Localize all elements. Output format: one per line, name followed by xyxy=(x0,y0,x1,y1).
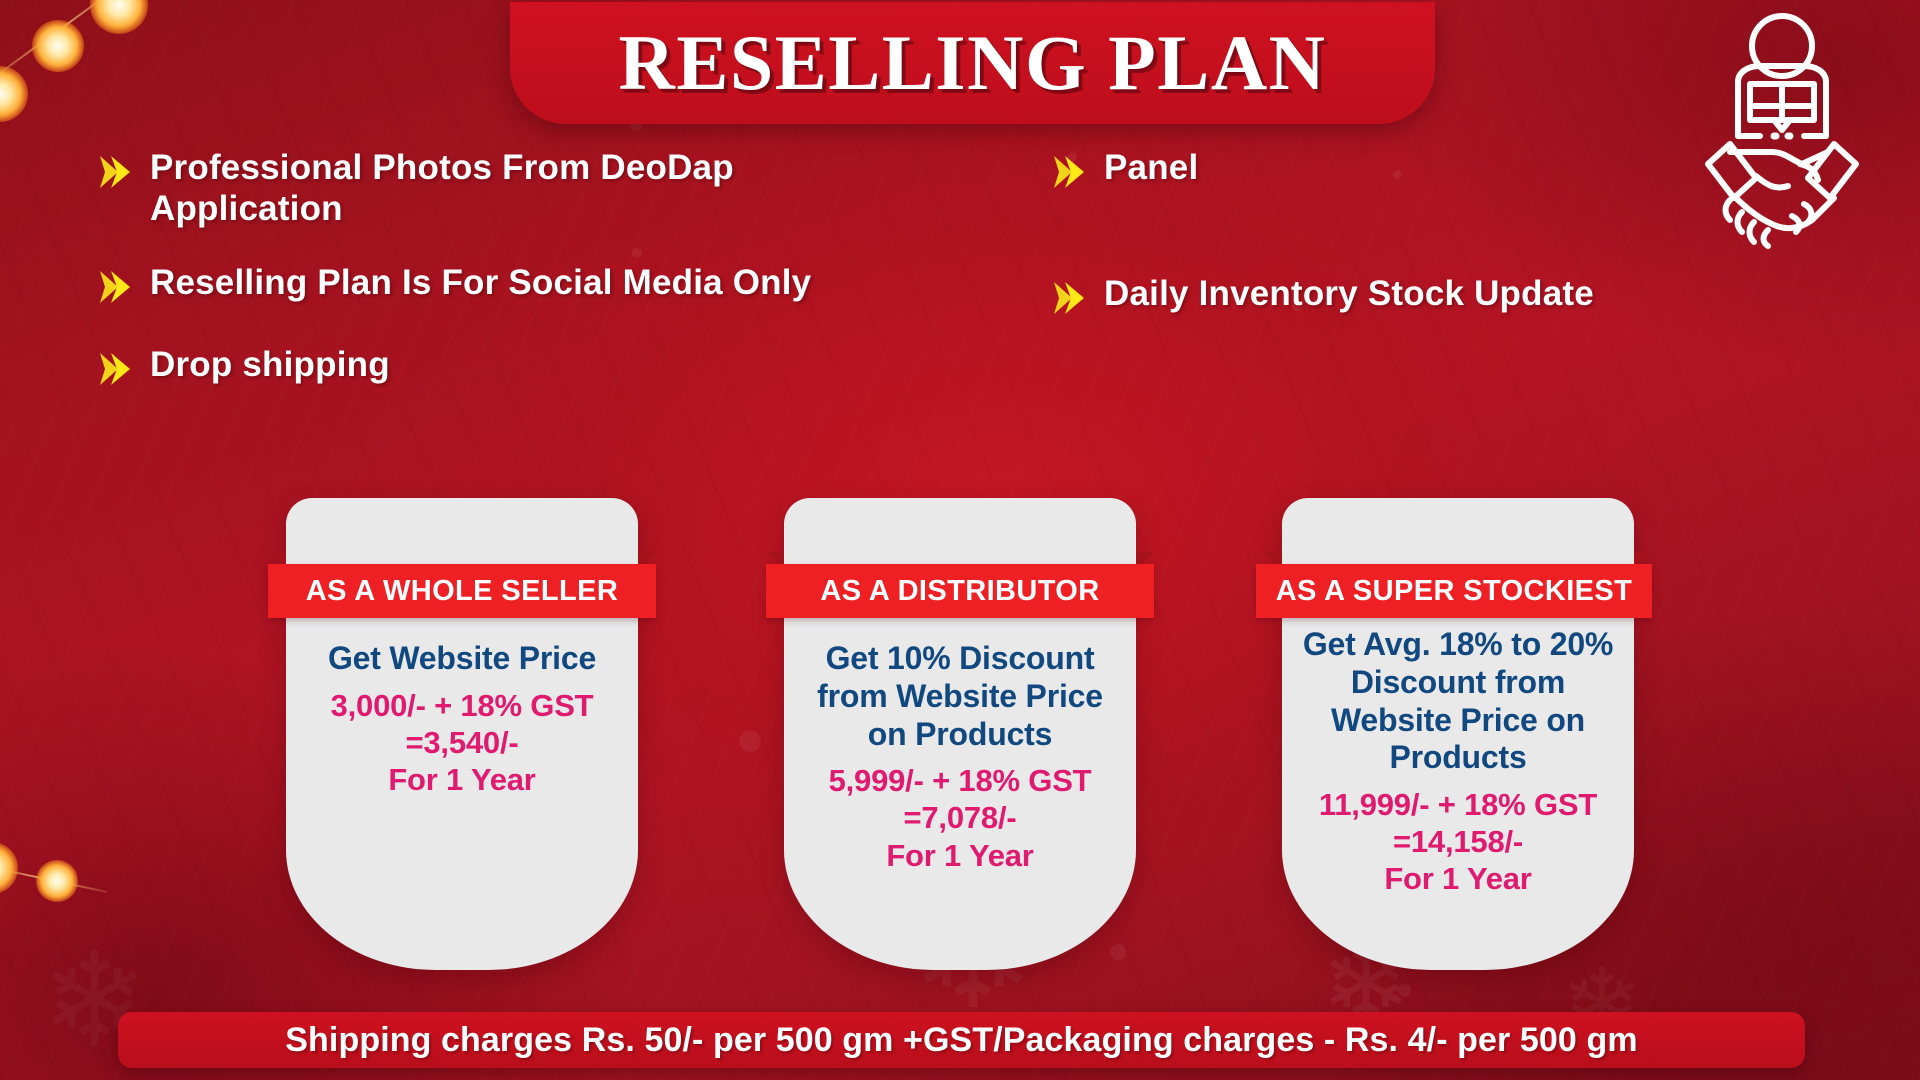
plan-headline: Get Avg. 18% to 20% Discount from Websit… xyxy=(1296,626,1620,777)
plan-card-whole-seller[interactable]: AS A WHOLE SELLER Get Website Price 3,00… xyxy=(286,498,638,970)
plan-ribbon-label: AS A DISTRIBUTOR xyxy=(820,575,1099,608)
page-title-banner: RESELLING PLAN xyxy=(510,2,1435,124)
chevron-right-icon xyxy=(1050,279,1090,322)
plan-ribbon: AS A SUPER STOCKIEST xyxy=(1256,564,1652,618)
feature-item: Daily Inventory Stock Update xyxy=(1050,274,1770,322)
chevron-right-icon xyxy=(96,350,136,393)
plan-price-line: =3,540/- xyxy=(300,724,624,761)
plan-price-line: 5,999/- + 18% GST xyxy=(798,762,1122,799)
plan-price: 5,999/- + 18% GST =7,078/- For 1 Year xyxy=(798,762,1122,874)
plan-cards: AS A WHOLE SELLER Get Website Price 3,00… xyxy=(0,498,1920,978)
feature-label: Panel xyxy=(1104,148,1198,189)
plan-ribbon: AS A DISTRIBUTOR xyxy=(766,564,1154,618)
plan-card-body: AS A SUPER STOCKIEST Get Avg. 18% to 20%… xyxy=(1282,498,1634,970)
feature-item: Reselling Plan Is For Social Media Only xyxy=(96,263,836,311)
plan-card-body: AS A WHOLE SELLER Get Website Price 3,00… xyxy=(286,498,638,970)
plan-card-content: Get Website Price 3,000/- + 18% GST =3,5… xyxy=(286,640,638,798)
plan-price-line: 11,999/- + 18% GST xyxy=(1296,786,1620,823)
bokeh-dot xyxy=(1398,984,1411,997)
footer-banner: Shipping charges Rs. 50/- per 500 gm +GS… xyxy=(118,1012,1805,1068)
plan-price: 11,999/- + 18% GST =14,158/- For 1 Year xyxy=(1296,786,1620,898)
feature-column-right: Panel Daily Inventory Stock Update xyxy=(1050,148,1770,356)
fairy-lights-top-left xyxy=(0,0,240,150)
plan-price-line: For 1 Year xyxy=(300,761,624,798)
plan-price-line: 3,000/- + 18% GST xyxy=(300,687,624,724)
chevron-right-icon xyxy=(1050,153,1090,196)
feature-item: Professional Photos From DeoDap Applicat… xyxy=(96,148,836,229)
plan-card-content: Get 10% Discount from Website Price on P… xyxy=(784,640,1136,874)
plan-headline: Get 10% Discount from Website Price on P… xyxy=(798,640,1122,753)
feature-label: Daily Inventory Stock Update xyxy=(1104,274,1594,315)
plan-price-line: =14,158/- xyxy=(1296,823,1620,860)
feature-item: Drop shipping xyxy=(96,345,836,393)
plan-card-body: AS A DISTRIBUTOR Get 10% Discount from W… xyxy=(784,498,1136,970)
plan-price-line: For 1 Year xyxy=(798,837,1122,874)
page-title: RESELLING PLAN xyxy=(619,18,1327,108)
plan-ribbon: AS A WHOLE SELLER xyxy=(268,564,656,618)
plan-ribbon-label: AS A WHOLE SELLER xyxy=(306,575,618,608)
feature-label: Reselling Plan Is For Social Media Only xyxy=(150,263,811,304)
plan-price: 3,000/- + 18% GST =3,540/- For 1 Year xyxy=(300,687,624,799)
plan-headline: Get Website Price xyxy=(300,640,624,678)
plan-price-line: =7,078/- xyxy=(798,799,1122,836)
footer-text: Shipping charges Rs. 50/- per 500 gm +GS… xyxy=(285,1021,1637,1060)
plan-card-super-stockiest[interactable]: AS A SUPER STOCKIEST Get Avg. 18% to 20%… xyxy=(1282,498,1634,970)
plan-card-content: Get Avg. 18% to 20% Discount from Websit… xyxy=(1282,626,1634,898)
feature-label: Drop shipping xyxy=(150,345,390,386)
feature-label: Professional Photos From DeoDap Applicat… xyxy=(150,148,836,229)
chevron-right-icon xyxy=(96,153,136,196)
plan-ribbon-label: AS A SUPER STOCKIEST xyxy=(1276,575,1633,608)
chevron-right-icon xyxy=(96,268,136,311)
plan-card-distributor[interactable]: AS A DISTRIBUTOR Get 10% Discount from W… xyxy=(784,498,1136,970)
feature-item: Panel xyxy=(1050,148,1770,196)
feature-column-left: Professional Photos From DeoDap Applicat… xyxy=(96,148,836,427)
plan-price-line: For 1 Year xyxy=(1296,860,1620,897)
